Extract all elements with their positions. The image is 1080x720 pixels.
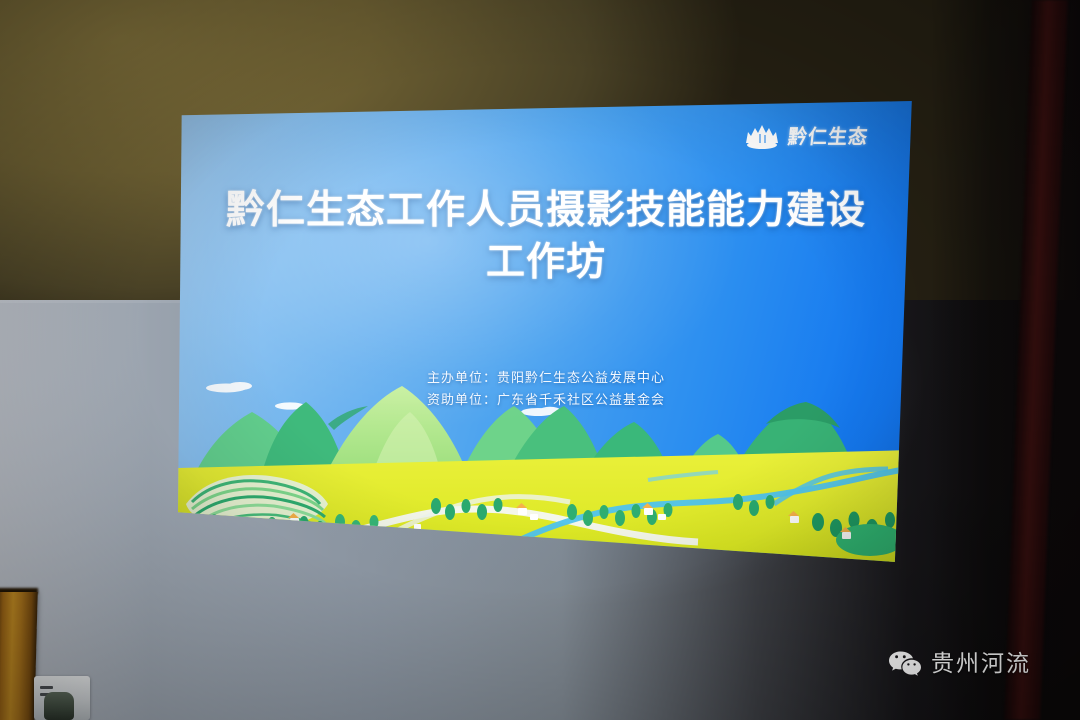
mountain-logo-icon <box>743 123 781 151</box>
outlet-plug[interactable] <box>44 692 74 720</box>
photo-scene: 黔仁生态 黔仁生态工作人员摄影技能能力建设 工作坊 主办单位：贵阳黔仁生态公益发… <box>0 0 1080 720</box>
projection-screen: 黔仁生态 黔仁生态工作人员摄影技能能力建设 工作坊 主办单位：贵阳黔仁生态公益发… <box>178 101 914 562</box>
brand-logo: 黔仁生态 <box>743 117 888 157</box>
outlet-slot-upper <box>40 686 53 689</box>
logo-text: 黔仁生态 <box>787 127 869 147</box>
watermark-text: 贵州河流 <box>931 653 1031 676</box>
watermark: 贵州河流 <box>888 650 1031 678</box>
title-line-2: 工作坊 <box>178 237 914 289</box>
subtitle-organizer: 主办单位：贵阳黔仁生态公益发展中心 <box>178 368 914 390</box>
title-line-1: 黔仁生态工作人员摄影技能能力建设 <box>178 185 914 237</box>
slide-title: 黔仁生态工作人员摄影技能能力建设 工作坊 <box>178 185 914 289</box>
subtitle-funder: 资助单位：广东省千禾社区公益基金会 <box>178 390 914 412</box>
slide-canvas: 黔仁生态 黔仁生态工作人员摄影技能能力建设 工作坊 主办单位：贵阳黔仁生态公益发… <box>178 101 914 562</box>
wooden-door-frame <box>0 592 38 720</box>
wechat-icon <box>888 650 922 678</box>
slide-subtitle: 主办单位：贵阳黔仁生态公益发展中心 资助单位：广东省千禾社区公益基金会 <box>178 368 914 412</box>
